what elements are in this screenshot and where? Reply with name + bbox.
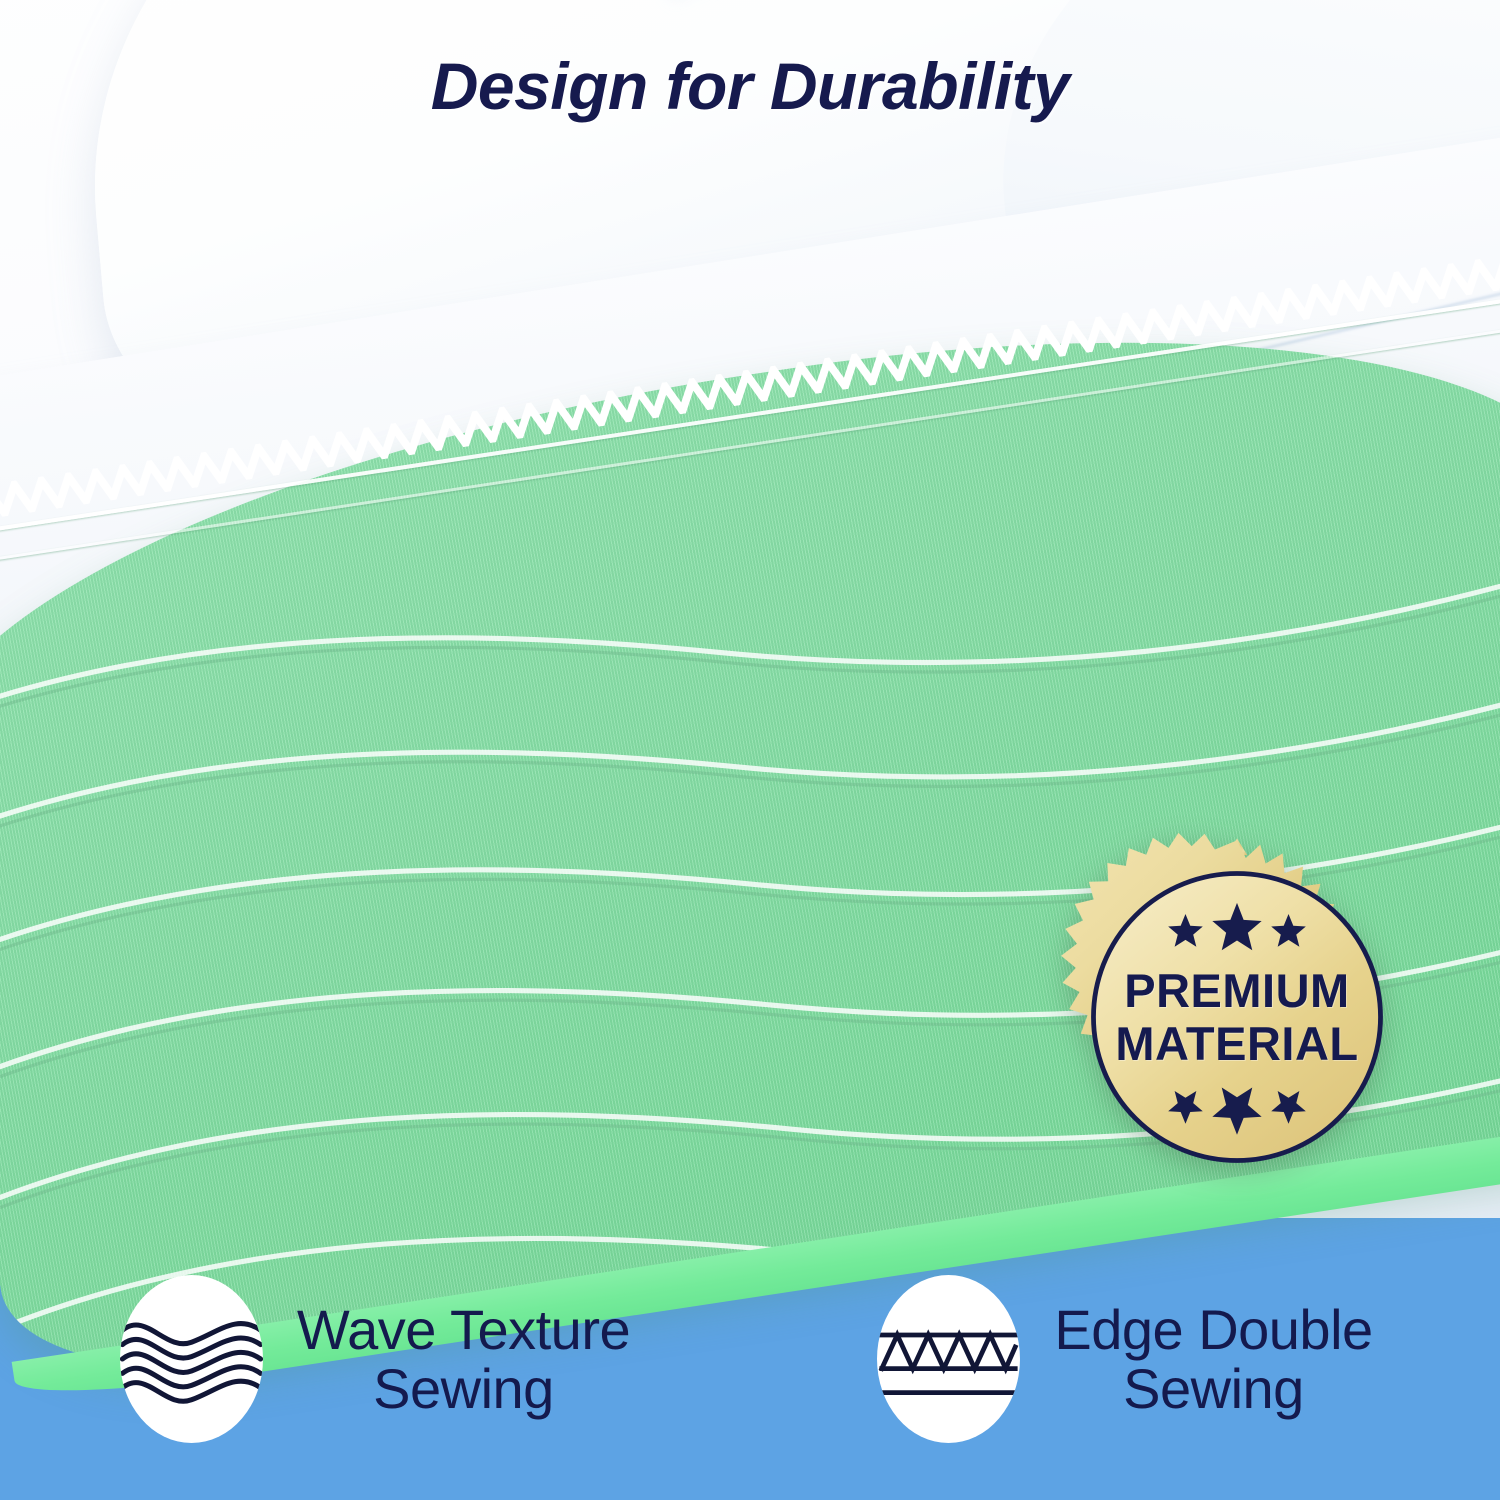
feature-wave-texture-sewing: Wave Texture Sewing <box>0 1275 750 1443</box>
product-marketing-image: Design for Durability <box>0 0 1500 1500</box>
feature-label-wave-texture-sewing: Wave Texture Sewing <box>297 1300 630 1419</box>
pillow-crease <box>636 0 1033 7</box>
zigzag-edge-stitch-icon <box>877 1275 1020 1443</box>
feature-row: Wave Texture Sewing Edge Double Sewing <box>0 1218 1500 1500</box>
wave-stitch-icon <box>120 1275 263 1443</box>
feature-label-edge-double-sewing: Edge Double Sewing <box>1054 1300 1372 1419</box>
page-title: Design for Durability <box>0 48 1500 124</box>
feature-edge-double-sewing: Edge Double Sewing <box>750 1275 1500 1443</box>
premium-material-badge: PREMIUM MATERIAL <box>1053 833 1421 1201</box>
